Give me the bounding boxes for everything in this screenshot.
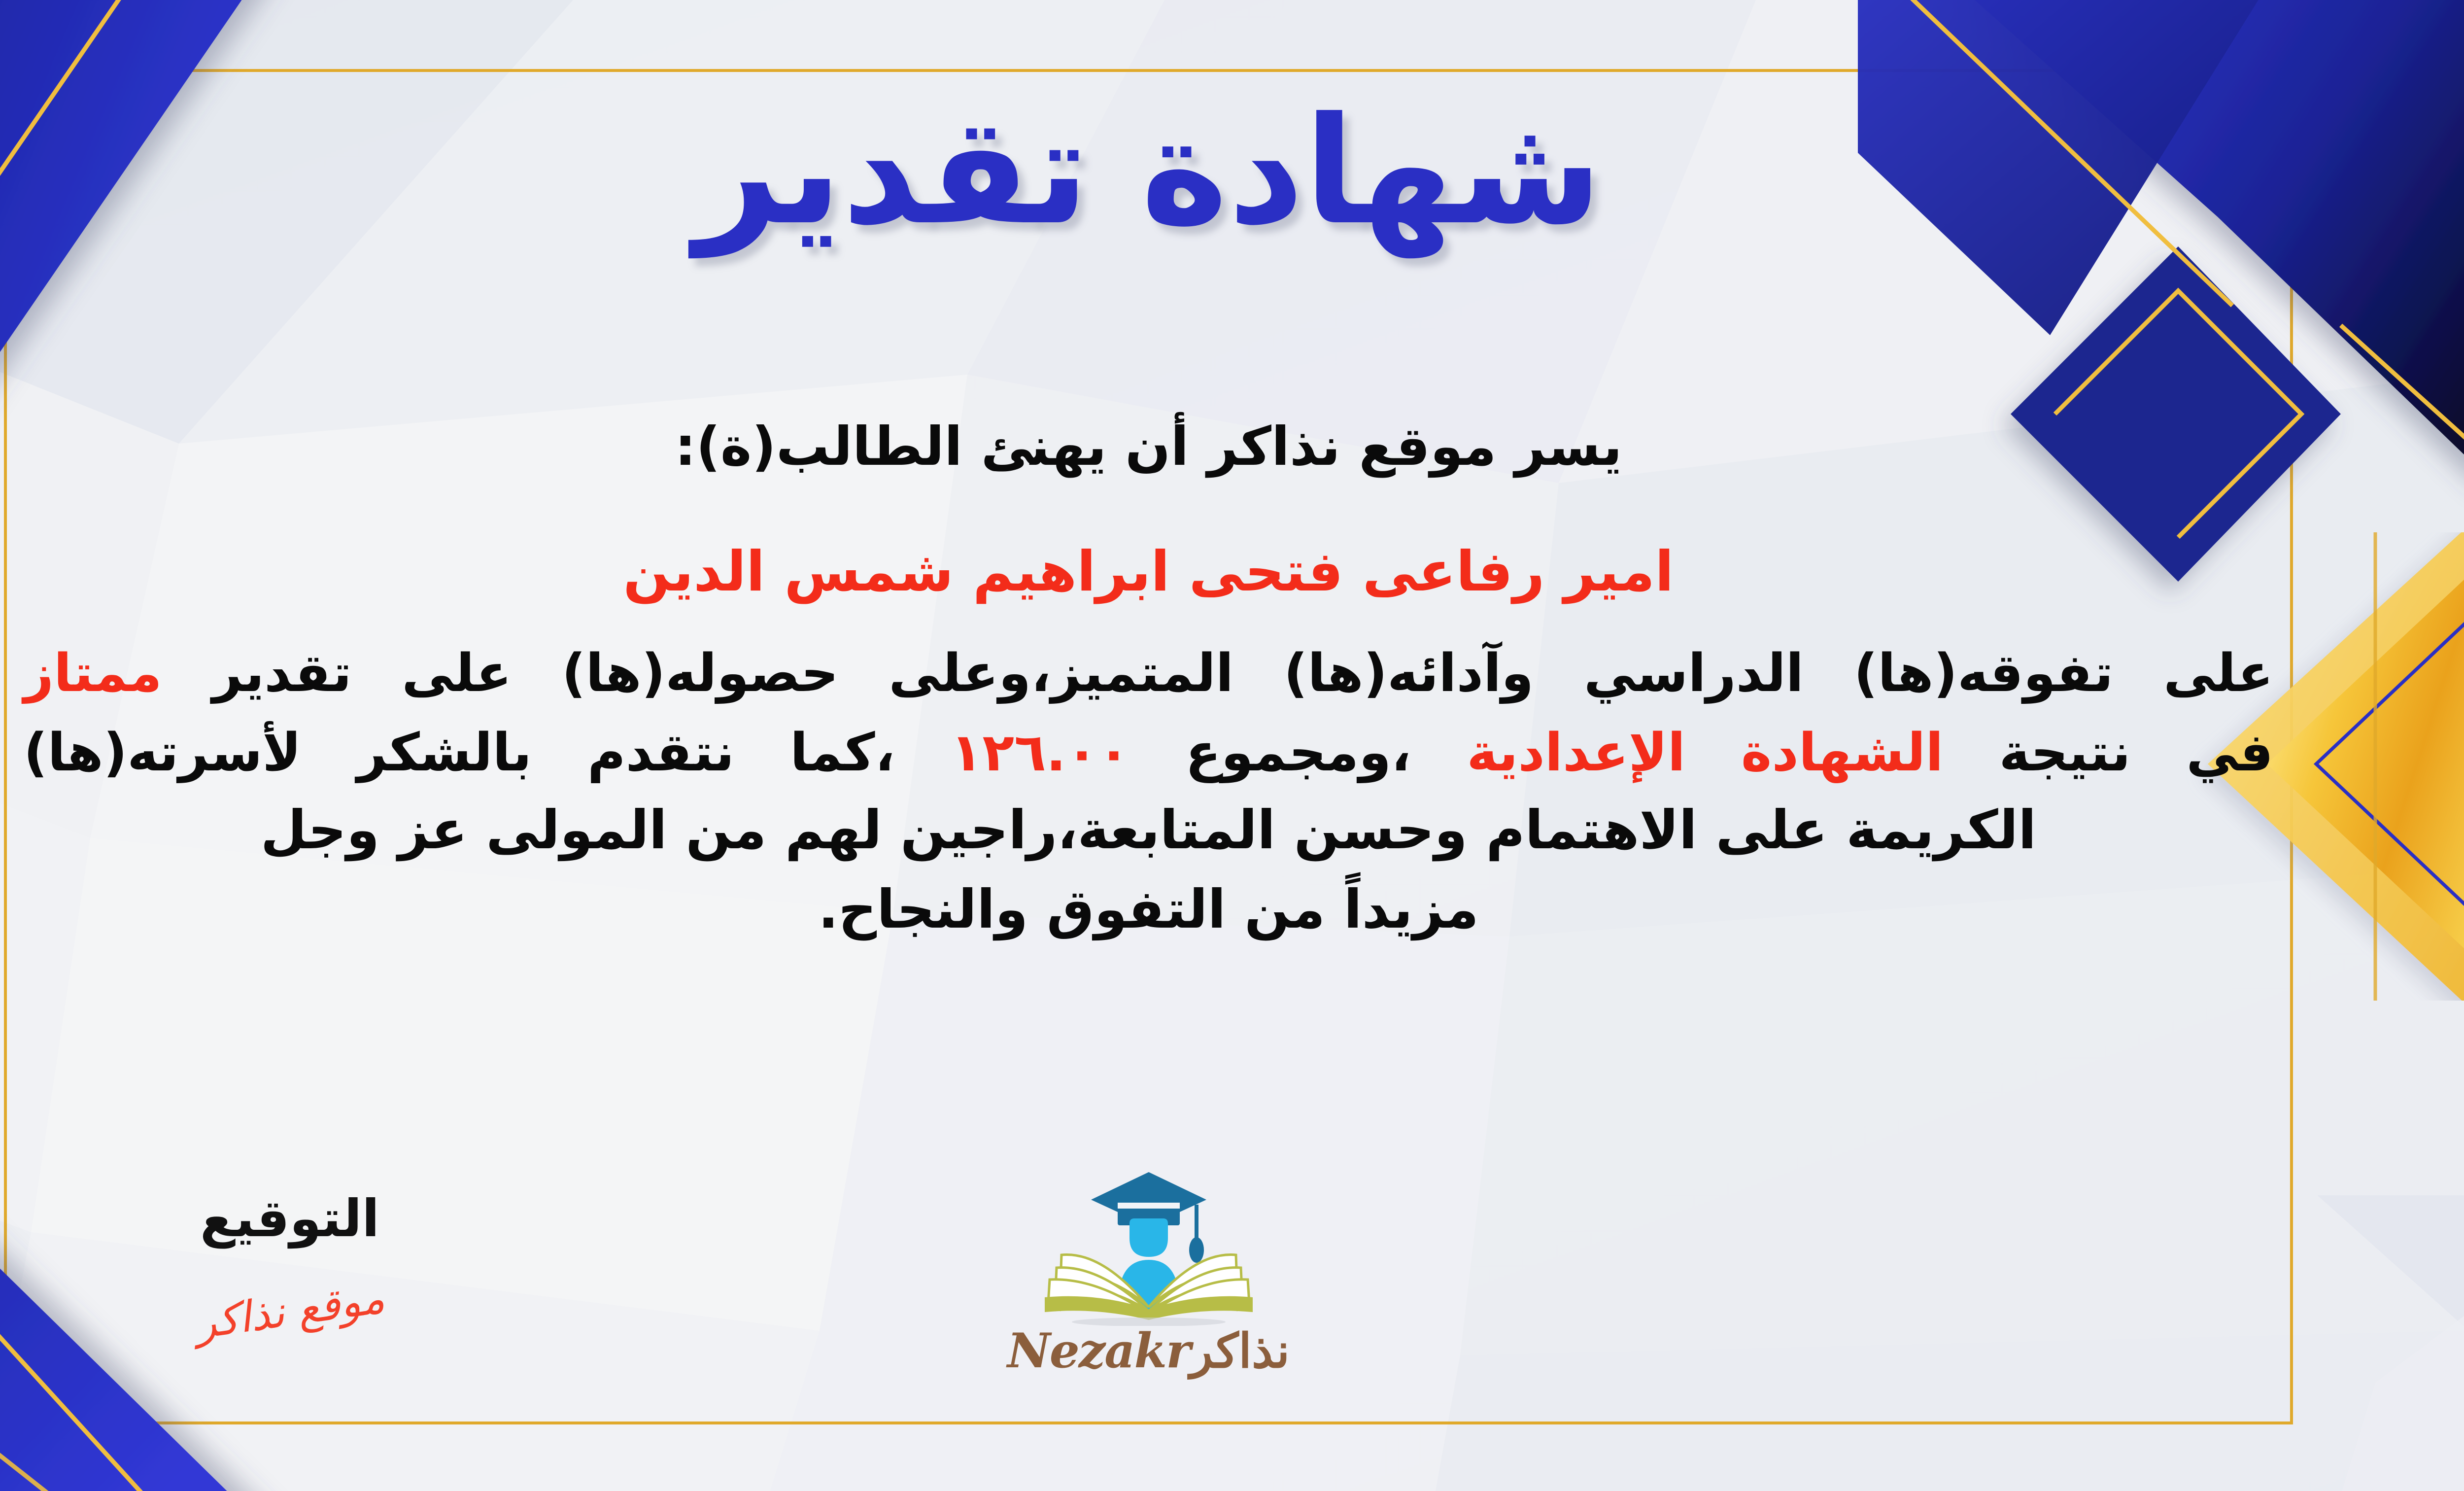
total-label-text: ،ومجموع (1185, 722, 1411, 783)
certificate-content: شهادة تقدير يسر موقع نذاكر أن يهنئ الطال… (4, 69, 2293, 1424)
logo-wordmark-latin: Nezakr (1007, 1323, 1190, 1379)
signature-script: موقع نذاكر (111, 1262, 469, 1360)
page-title: شهادة تقدير (4, 79, 2293, 264)
total-score-value: ١٢٦.٠٠ (951, 722, 1130, 783)
grade-value: ممتاز (24, 643, 162, 703)
site-logo: نذاكرNezakr (976, 1163, 1321, 1379)
certificate-page: شهادة تقدير يسر موقع نذاكر أن يهنئ الطال… (0, 0, 2464, 1491)
achievement-line-3: الكريمة على الاهتمام وحسن المتابعة،راجين… (24, 793, 2273, 868)
thanks-family-text: ،كما نتقدم بالشكر لأسرته(ها) (24, 722, 895, 783)
achievement-line-1: على تفوقه(ها) الدراسي وآدائه(ها) المتميز… (24, 633, 2273, 713)
student-name: امير رفاعى فتحى ابراهيم شمس الدين (24, 540, 2273, 604)
achievement-text-1: على تفوقه(ها) الدراسي وآدائه(ها) المتميز… (212, 643, 2273, 703)
logo-wordmark-arabic: نذاكر (1190, 1323, 1290, 1379)
graduate-book-logo-icon (1033, 1163, 1265, 1326)
certificate-body: يسر موقع نذاكر أن يهنئ الطالب(ة): امير ر… (24, 409, 2273, 951)
result-prefix-text: في نتيجة (1999, 722, 2274, 783)
logo-wordmark: نذاكرNezakr (976, 1323, 1321, 1379)
intro-line: يسر موقع نذاكر أن يهنئ الطالب(ة): (24, 409, 2273, 485)
signature-label: التوقيع (112, 1193, 467, 1244)
certificate-footer: التوقيع موقع نذاكر (4, 1104, 2293, 1420)
exam-name: الشهادة الإعدادية (1467, 722, 1943, 783)
signature-block: التوقيع موقع نذاكر (112, 1193, 467, 1336)
achievement-line-2: في نتيجة الشهادة الإعدادية ،ومجموع ١٢٦.٠… (24, 713, 2273, 792)
achievement-line-4: مزيداً من التفوق والنجاح. (24, 872, 2273, 947)
